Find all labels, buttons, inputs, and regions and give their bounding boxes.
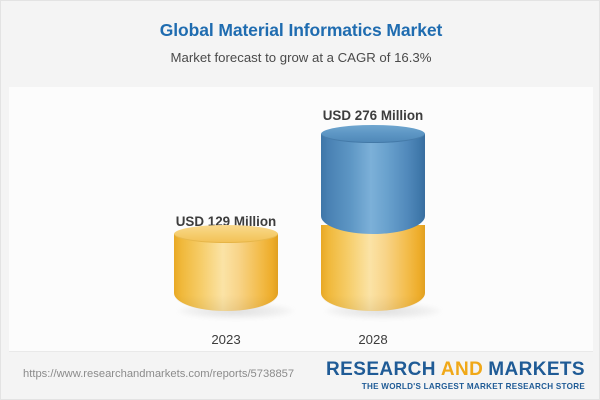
cylinder-2023 <box>174 225 278 311</box>
logo-word-markets: MARKETS <box>488 359 585 380</box>
chart-subtitle: Market forecast to grow at a CAGR of 16.… <box>1 41 600 65</box>
market-forecast-chart-card: Global Material Informatics Market Marke… <box>0 0 600 400</box>
bar-segment-growth-2028 <box>321 134 425 234</box>
category-label-2028: 2028 <box>281 332 465 347</box>
bar-segment-base-2028 <box>321 225 425 311</box>
research-and-markets-logo[interactable]: RESEARCHANDMARKETS THE WORLD'S LARGEST M… <box>326 360 585 391</box>
logo-wordmark: RESEARCHANDMARKETS <box>326 360 585 380</box>
cylinder-top-cap-2028 <box>321 125 425 143</box>
report-url-link[interactable]: https://www.researchandmarkets.com/repor… <box>23 368 294 380</box>
page-title: Global Material Informatics Market <box>1 1 600 41</box>
logo-word-research: RESEARCH <box>326 359 436 380</box>
cylinder-2028 <box>321 125 425 311</box>
chart-footer: https://www.researchandmarkets.com/repor… <box>1 352 600 400</box>
bar-value-label-2028: USD 276 Million <box>281 108 465 123</box>
chart-plot-area: USD 129 Million 2023 USD 276 Million 202… <box>9 87 593 351</box>
cylinder-top-cap-2023 <box>174 225 278 243</box>
logo-word-and: AND <box>441 359 483 380</box>
bar-segment-base-2023 <box>174 234 278 311</box>
logo-tagline: THE WORLD'S LARGEST MARKET RESEARCH STOR… <box>326 382 585 391</box>
chart-header: Global Material Informatics Market Marke… <box>1 1 600 87</box>
